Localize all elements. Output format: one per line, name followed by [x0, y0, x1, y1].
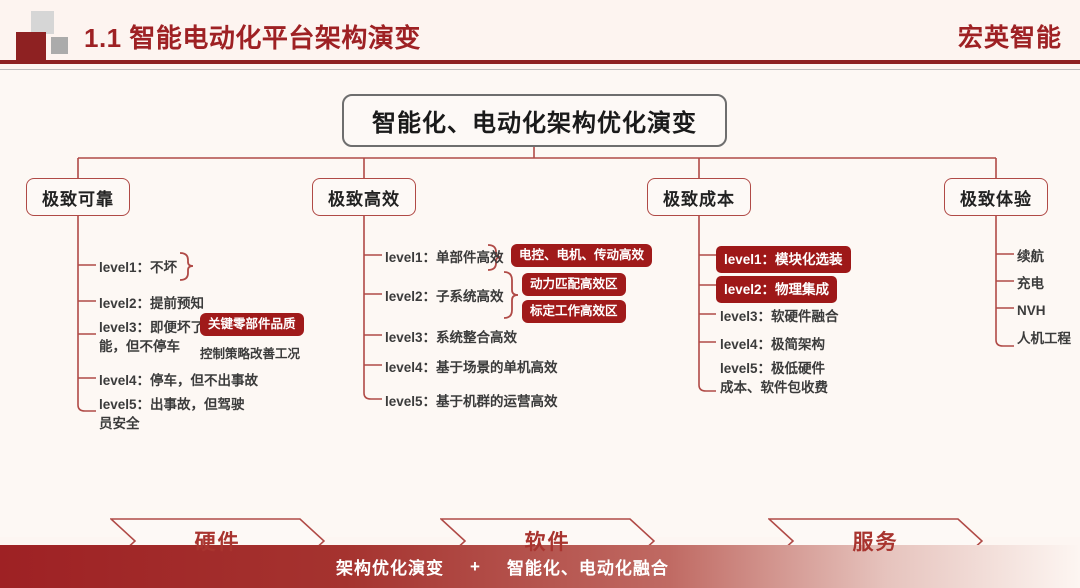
pillar-node-reliability[interactable]: 极致可靠	[26, 178, 130, 216]
footer-right-text: 智能化、电动化融合	[507, 554, 669, 579]
pillar-node-experience[interactable]: 极致体验	[944, 178, 1048, 216]
chevron-label: 软件	[525, 526, 571, 556]
footer-left-text: 架构优化演变	[336, 554, 444, 579]
level-item: level4：极简架构	[720, 335, 825, 354]
pillar-node-cost[interactable]: 极致成本	[647, 178, 751, 216]
level-item-highlight: level2：物理集成	[716, 276, 837, 303]
level-item: 人机工程	[1017, 329, 1071, 348]
decoration-square-gray-small	[51, 37, 68, 54]
footer-content: 架构优化演变 + 智能化、电动化融合	[336, 554, 669, 579]
level-item: 充电	[1017, 274, 1044, 293]
chevron-label: 硬件	[195, 526, 241, 556]
level-item: level1：不坏	[99, 258, 177, 277]
pillar-node-efficiency[interactable]: 极致高效	[312, 178, 416, 216]
tag-badge: 关键零部件品质	[200, 313, 304, 336]
header-divider-thick	[0, 60, 1080, 64]
chevron-label: 服务	[853, 526, 899, 556]
level-item: level5：极低硬件 成本、软件包收费	[720, 359, 828, 397]
diagram-canvas: 智能化、电动化架构优化演变 极致可靠 极致高效 极致成本 极致体验 level1…	[0, 70, 1080, 537]
level-item: level5：出事故，但驾驶 员安全	[99, 395, 245, 433]
level-item: level2：子系统高效	[385, 287, 504, 306]
level-item: level4：基于场景的单机高效	[385, 358, 558, 377]
tag-badge: 动力匹配高效区	[522, 273, 626, 296]
page-title: 1.1 智能电动化平台架构演变	[84, 18, 421, 55]
root-node: 智能化、电动化架构优化演变	[342, 94, 727, 147]
level-item: level2：提前预知	[99, 294, 204, 313]
brand-logo: 宏英智能	[958, 18, 1062, 54]
page-header: 1.1 智能电动化平台架构演变 宏英智能	[0, 0, 1080, 63]
level-item: level3：软硬件融合	[720, 307, 839, 326]
level-item: level4：停车，但不出事故	[99, 371, 258, 390]
level-item: level5：基于机群的运营高效	[385, 392, 558, 411]
decoration-square-red	[16, 32, 46, 62]
level-item: NVH	[1017, 301, 1046, 320]
tag-badge: 标定工作高效区	[522, 300, 626, 323]
level-item: 续航	[1017, 247, 1044, 266]
level-item: level3：系统整合高效	[385, 328, 517, 347]
tag-plain-text: 控制策略改善工况	[200, 343, 300, 362]
level-item-highlight: level1：模块化选装	[716, 246, 851, 273]
tag-badge: 电控、电机、传动高效	[511, 244, 652, 267]
decoration-square-gray-top	[31, 11, 54, 34]
level-item: level1：单部件高效	[385, 248, 504, 267]
footer-plus-sign: +	[470, 557, 481, 577]
